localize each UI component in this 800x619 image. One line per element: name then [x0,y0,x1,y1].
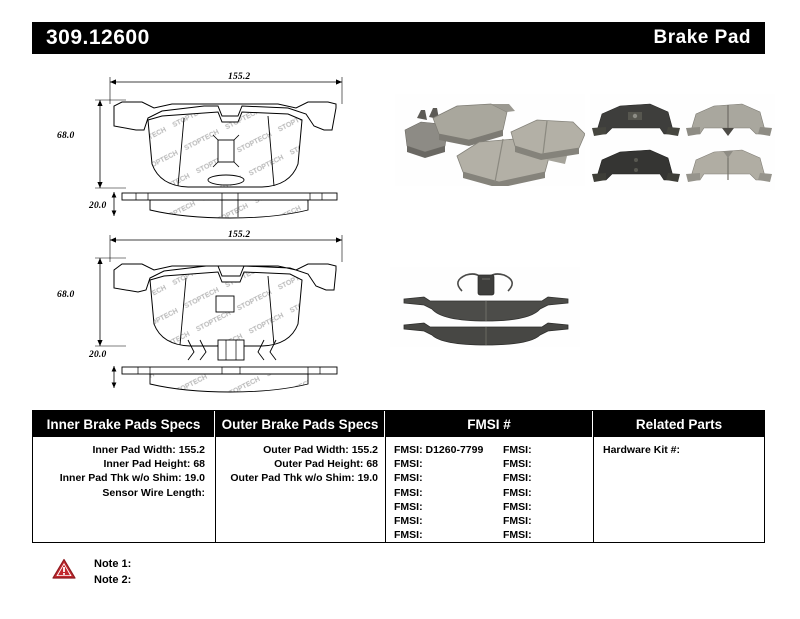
inner-specs-list: Inner Pad Width: 155.2 Inner Pad Height:… [33,443,205,500]
inner-thickness-dimension: 20.0 [89,201,106,211]
product-photo-pad-grid [590,94,775,190]
fmsi-list-column-2: FMSI: FMSI: FMSI: FMSI: FMSI: FMSI: [503,443,593,542]
divider-outer-fmsi [385,411,386,542]
fmsi-label: FMSI: [394,472,423,484]
spec-label: Outer Pad Thk w/o Shim: [230,472,354,484]
fmsi-row: FMSI: D1260-7799 [394,443,504,457]
fmsi-row: FMSI: [503,443,593,457]
spec-label: Inner Pad Height: [103,458,190,470]
spec-value: 19.0 [185,472,205,484]
outer-pad-side-view-drawing [92,336,392,394]
drawing-area: STOPTECH 155.2 68 [32,62,765,392]
spec-label: Outer Pad Width: [263,444,349,456]
fmsi-label: FMSI: [503,487,532,499]
fmsi-row: FMSI: [394,457,504,471]
spec-value: 68 [193,458,205,470]
spec-label: Sensor Wire Length: [102,487,205,499]
related-part-row: Hardware Kit #: [603,443,758,457]
fmsi-label: FMSI: [394,487,423,499]
inner-width-dimension: 155.2 [228,72,250,82]
notes-section: Note 1: Note 2: [52,556,352,598]
fmsi-label: FMSI: [394,515,423,527]
fmsi-label: FMSI: [394,529,423,541]
fmsi-label: FMSI: [394,501,423,513]
fmsi-row: FMSI: [394,471,504,485]
fmsi-row: FMSI: [394,486,504,500]
fmsi-label: FMSI: [394,444,423,456]
spec-row: Outer Pad Height: 68 [216,457,378,471]
divider-fmsi-related [593,411,594,542]
product-type: Brake Pad [654,27,751,49]
fmsi-row: FMSI: [394,500,504,514]
header-inner-brake-pads-specs: Inner Brake Pads Specs [33,411,214,437]
fmsi-row: FMSI: [503,528,593,542]
specs-table: Inner Brake Pads Specs Outer Brake Pads … [32,410,765,543]
warning-triangle-icon [52,558,76,579]
fmsi-row: FMSI: [503,457,593,471]
outer-thickness-dimension: 20.0 [89,350,106,360]
spec-label: Outer Pad Height: [274,458,363,470]
part-number: 309.12600 [46,26,150,50]
inner-height-dimension: 68.0 [57,131,74,141]
fmsi-row: FMSI: [503,500,593,514]
note-1: Note 1: [94,556,131,572]
outer-height-dimension: 68.0 [57,290,74,300]
fmsi-label: FMSI: [394,458,423,470]
spec-row: Inner Pad Thk w/o Shim: 19.0 [33,471,205,485]
fmsi-label: FMSI: [503,444,532,456]
fmsi-value: D1260-7799 [426,444,484,456]
product-photo-angled-set [395,94,585,186]
spec-label: Inner Pad Thk w/o Shim: [60,472,182,484]
spec-row: Outer Pad Width: 155.2 [216,443,378,457]
outer-specs-list: Outer Pad Width: 155.2 Outer Pad Height:… [216,443,378,486]
table-header-row: Inner Brake Pads Specs Outer Brake Pads … [33,411,764,437]
fmsi-row: FMSI: [503,471,593,485]
fmsi-label: FMSI: [503,501,532,513]
fmsi-label: FMSI: [503,472,532,484]
fmsi-label: FMSI: [503,529,532,541]
fmsi-list-column-1: FMSI: D1260-7799 FMSI: FMSI: FMSI: FMSI:… [394,443,504,542]
header-bar: 309.12600 Brake Pad [32,22,765,54]
related-parts-list: Hardware Kit #: [603,443,758,457]
hardware-kit-label: Hardware Kit #: [603,444,680,456]
spec-value: 155.2 [352,444,378,456]
fmsi-row: FMSI: [394,514,504,528]
spec-value: 19.0 [358,472,378,484]
fmsi-label: FMSI: [503,458,532,470]
header-fmsi: FMSI # [386,411,592,437]
spec-row: Sensor Wire Length: [33,486,205,500]
product-photo-edge-pair [390,267,580,347]
fmsi-label: FMSI: [503,515,532,527]
header-related-parts: Related Parts [594,411,764,437]
spec-value: 155.2 [179,444,205,456]
header-outer-brake-pads-specs: Outer Brake Pads Specs [216,411,384,437]
outer-width-dimension: 155.2 [228,230,250,240]
spec-row: Inner Pad Width: 155.2 [33,443,205,457]
note-2: Note 2: [94,572,131,588]
fmsi-row: FMSI: [503,486,593,500]
note-lines: Note 1: Note 2: [94,556,131,588]
spec-sheet: 309.12600 Brake Pad STOPTECH [0,0,800,619]
spec-value: 68 [366,458,378,470]
fmsi-row: FMSI: [394,528,504,542]
spec-row: Inner Pad Height: 68 [33,457,205,471]
spec-label: Inner Pad Width: [92,444,175,456]
spec-row: Outer Pad Thk w/o Shim: 19.0 [216,471,378,485]
fmsi-row: FMSI: [503,514,593,528]
